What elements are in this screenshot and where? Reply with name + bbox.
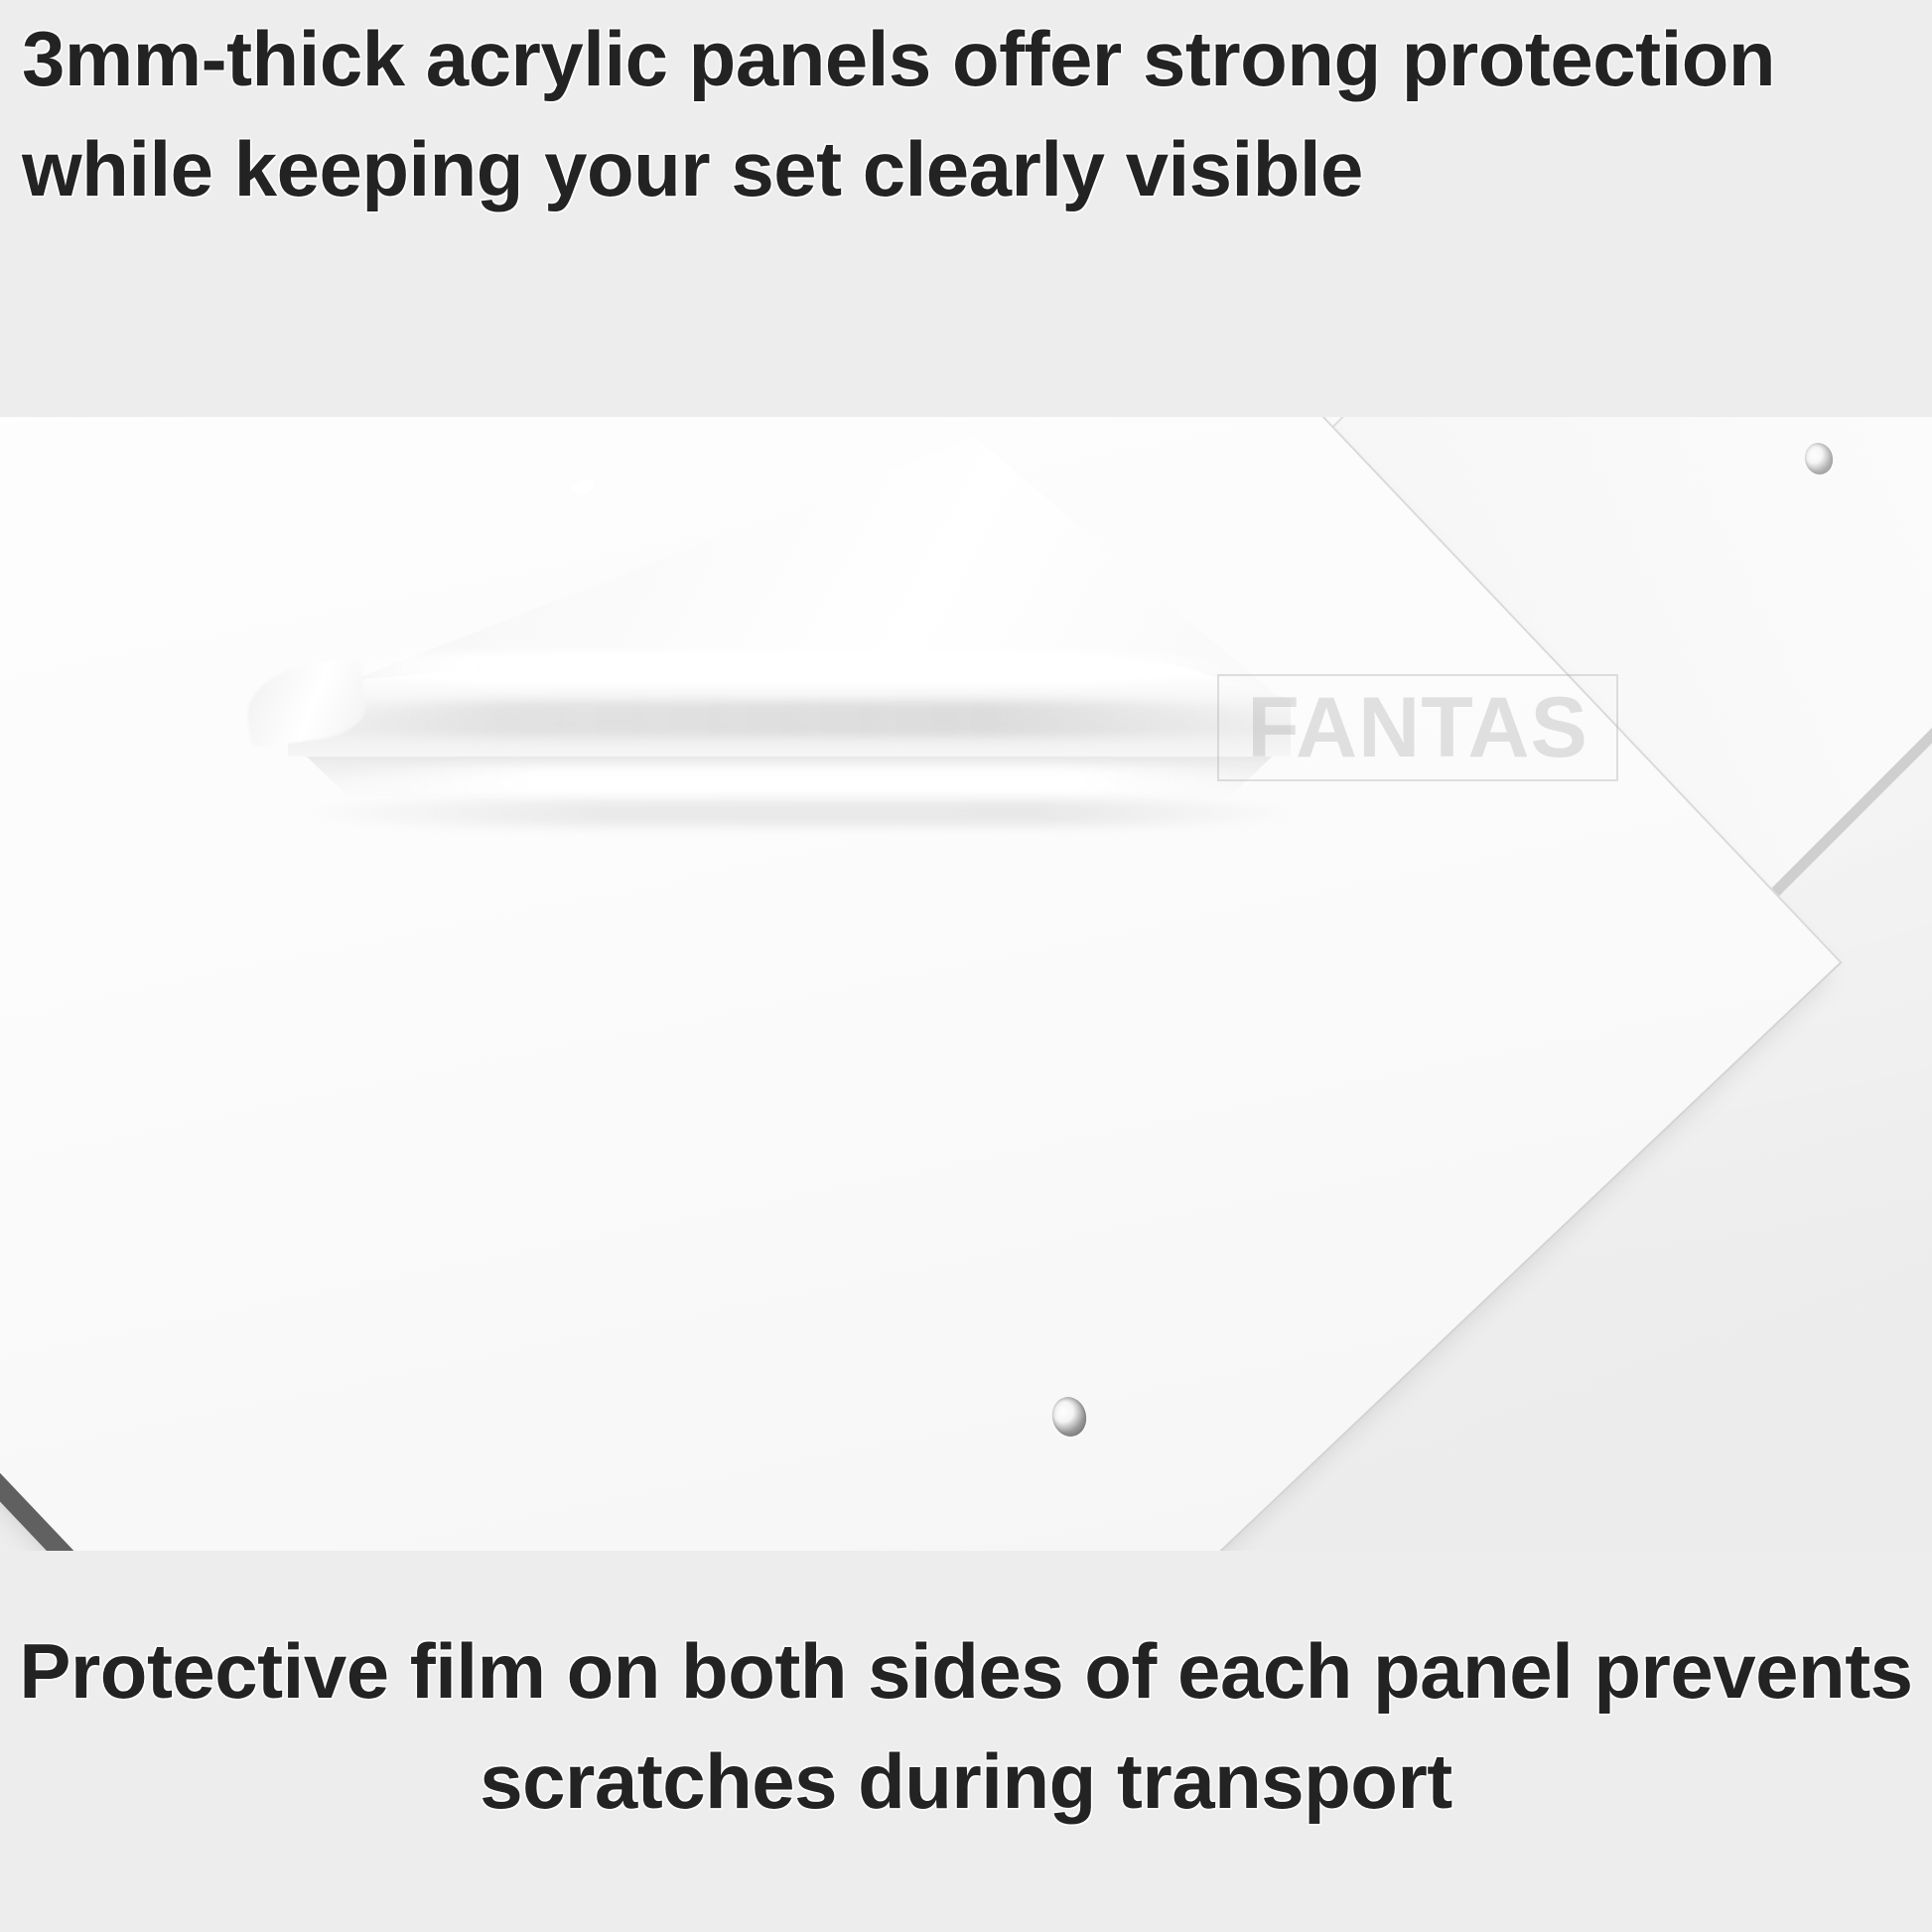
film-curl-highlight (328, 651, 1251, 685)
watermark-label: FANTAS (1247, 685, 1588, 770)
panel-crease-highlight (282, 766, 1305, 796)
acrylic-sheet: FANTAS (0, 417, 1932, 1551)
top-caption: 3mm-thick acrylic panels offer strong pr… (22, 4, 1908, 224)
film-curl-lowlight (308, 701, 1281, 737)
product-feature-card: 3mm-thick acrylic panels offer strong pr… (0, 0, 1932, 1932)
bottom-caption: Protective film on both sides of each pa… (12, 1616, 1920, 1837)
panel-crease-shadow (298, 800, 1301, 826)
product-photo: FANTAS (0, 417, 1932, 1551)
watermark: FANTAS (1217, 674, 1618, 781)
